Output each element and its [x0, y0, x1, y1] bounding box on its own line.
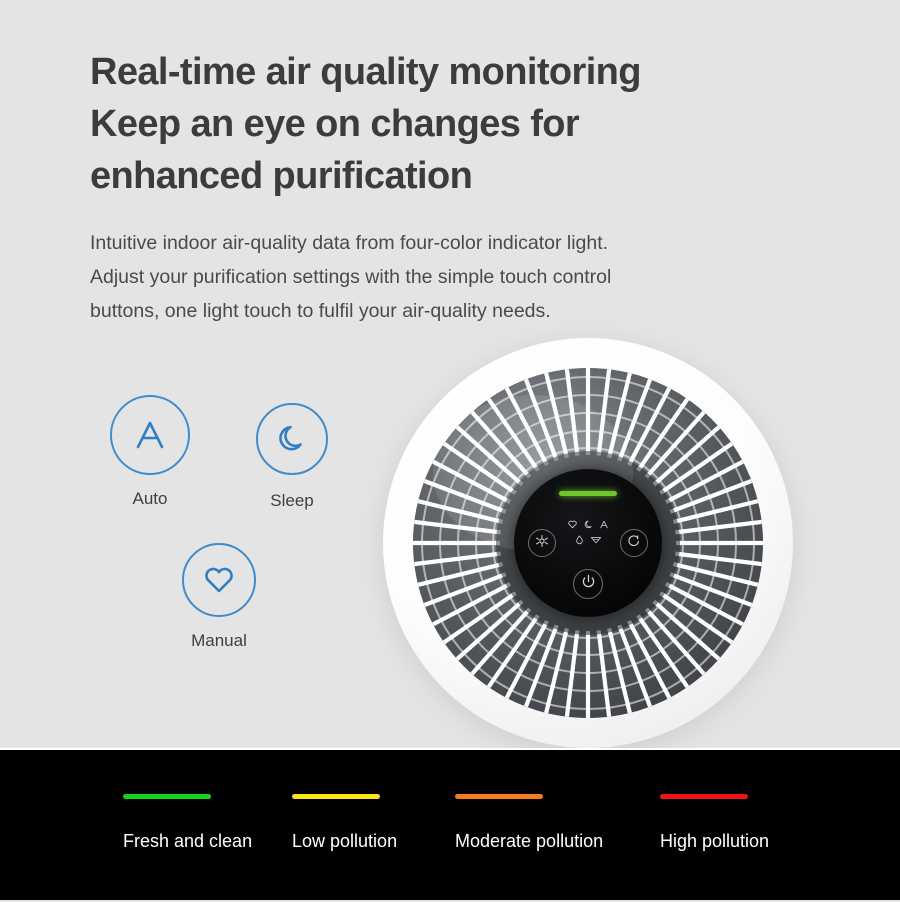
letter-a-icon [128, 413, 172, 457]
mode-sleep-ring [256, 403, 328, 475]
status-row-bottom [556, 534, 620, 545]
status-row-top [556, 519, 620, 530]
mode-auto[interactable]: Auto [80, 395, 220, 509]
air-quality-legend: Fresh and cleanLow pollutionModerate pol… [0, 748, 900, 900]
legend-label: Moderate pollution [455, 831, 603, 852]
air-quality-indicator-bar [559, 491, 617, 496]
mode-manual[interactable]: Manual [149, 543, 289, 651]
description-line-2: Adjust your purification settings with t… [90, 260, 790, 294]
legend-item: Low pollution [292, 794, 397, 852]
description-line-1: Intuitive indoor air-quality data from f… [90, 226, 790, 260]
power-button[interactable] [573, 569, 603, 599]
control-hub [514, 469, 662, 617]
fan-button[interactable] [528, 529, 556, 557]
fan-icon [534, 533, 550, 554]
power-icon [580, 573, 597, 595]
legend-item: High pollution [660, 794, 769, 852]
filter-icon [574, 534, 585, 545]
mode-sleep-label: Sleep [222, 491, 362, 511]
air-purifier [383, 338, 793, 748]
letter-a-icon [599, 519, 609, 530]
legend-item-list: Fresh and cleanLow pollutionModerate pol… [0, 750, 900, 902]
legend-color-bar [660, 794, 748, 799]
legend-item: Moderate pollution [455, 794, 603, 852]
description-line-3: buttons, one light touch to fulfil your … [90, 294, 790, 328]
headline-line-2: Keep an eye on changes for [90, 98, 790, 150]
mode-sleep[interactable]: Sleep [222, 403, 362, 511]
mode-icon-group: Auto Sleep Manual [0, 395, 380, 685]
legend-color-bar [123, 794, 211, 799]
headline-line-1: Real-time air quality monitoring [90, 46, 790, 98]
crescent-moon-icon [273, 420, 311, 458]
legend-item: Fresh and clean [123, 794, 252, 852]
page-title: Real-time air quality monitoring Keep an… [90, 46, 790, 202]
mode-auto-ring [110, 395, 190, 475]
cycle-arrow-icon [626, 533, 642, 554]
legend-color-bar [455, 794, 543, 799]
status-icon-cluster [556, 519, 620, 549]
mode-manual-ring [182, 543, 256, 617]
mode-auto-label: Auto [80, 489, 220, 509]
legend-label: High pollution [660, 831, 769, 852]
description-text: Intuitive indoor air-quality data from f… [90, 202, 790, 328]
heart-icon [567, 519, 578, 530]
headline-line-3: enhanced purification [90, 150, 790, 202]
legend-color-bar [292, 794, 380, 799]
legend-label: Fresh and clean [123, 831, 252, 852]
heart-icon [199, 560, 239, 600]
legend-label: Low pollution [292, 831, 397, 852]
wifi-icon [590, 534, 602, 545]
crescent-moon-icon [583, 519, 594, 530]
mode-manual-label: Manual [149, 631, 289, 651]
cycle-button[interactable] [620, 529, 648, 557]
intro-copy-block: Real-time air quality monitoring Keep an… [90, 46, 790, 328]
